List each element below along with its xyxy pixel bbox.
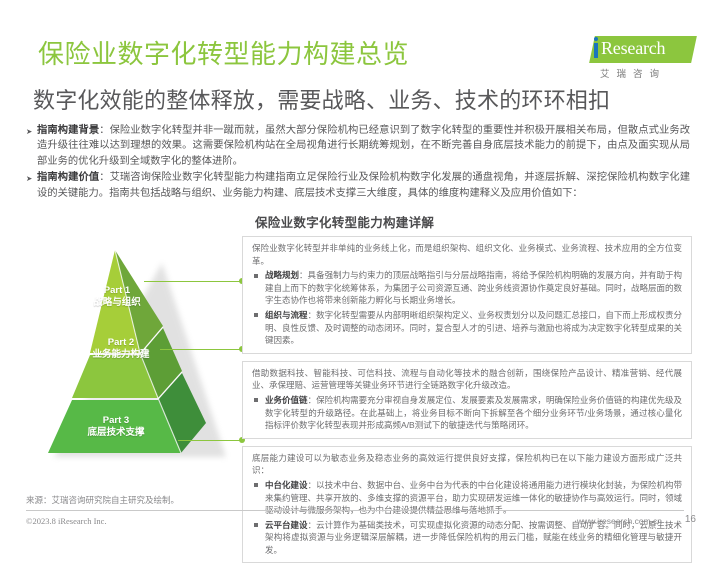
copyright-text: ©2023.8 iResearch Inc. xyxy=(26,516,107,526)
logo-mark: Research xyxy=(582,36,694,64)
card-bullet-label: 中台化建设 xyxy=(265,480,308,490)
logo-i-dot-icon xyxy=(594,37,598,41)
card-bullet: 组织与流程：数字化转型需要从内部明晰组织架构定义、业务权责划分以及问题汇总接口，… xyxy=(252,309,682,347)
logo-i-stem-icon xyxy=(594,43,598,58)
card-bullet-label: 云平台建设 xyxy=(265,520,308,530)
intro-item: 指南构建背景：保险业数字化转型并非一蹴而就，虽然大部分保险机构已经意识到了数字化… xyxy=(26,123,690,169)
connector-line-3 xyxy=(178,440,242,441)
intro-item-text: ：保险业数字化转型并非一蹴而就，虽然大部分保险机构已经意识到了数字化转型的重要性… xyxy=(37,125,690,167)
intro-item-label: 指南构建价值 xyxy=(37,172,99,183)
card-bullet-text: ：具备强制力与约束力的顶层战略指引与分层战略指南，将给予保险机构明确的发展方向，… xyxy=(265,270,682,305)
card-bullet-text: ：保险机构需要充分审视自身发展定位、发展要素及发展需求，明确保险业务价值链的构建… xyxy=(265,395,682,430)
card-lead: 借助数据科技、智能科技、可信科技、流程与自动化等技术的融合创新，围绕保险产品设计… xyxy=(252,367,682,392)
logo-chinese-name: 艾瑞咨询 xyxy=(600,66,666,80)
connector-line-2 xyxy=(160,349,242,350)
panel-title: 保险业数字化转型能力构建详解 xyxy=(255,212,434,231)
website-url: www.iresearch.com.cn xyxy=(577,516,662,526)
footer-divider xyxy=(26,510,684,511)
page-subtitle: 数字化效能的整体释放，需要战略、业务、技术的环环相扣 xyxy=(33,83,610,115)
card-bullet-label: 战略规划 xyxy=(265,270,299,280)
page-title: 保险业数字化转型能力构建总览 xyxy=(38,34,409,71)
intro-item-label: 指南构建背景 xyxy=(37,125,99,136)
card-strategy-organization: 保险业数字化转型并非单纯的业务线上化，而是组织架构、组织文化、业务模式、业务流程… xyxy=(242,236,692,354)
slide-canvas: 保险业数字化转型能力构建总览 数字化效能的整体释放，需要战略、业务、技术的环环相… xyxy=(0,0,710,532)
iresearch-logo: Research 艾瑞咨询 xyxy=(582,36,694,84)
card-lead: 底层能力建设可以为敏态业务及稳态业务的高效运行提供良好支撑，保险机构已在以下能力… xyxy=(252,452,682,477)
intro-item-text: ：艾瑞咨询保险业数字化转型能力构建指南立足保险行业及保险机构数字化发展的通盘视角… xyxy=(37,172,690,198)
card-bullet: 战略规划：具备强制力与约束力的顶层战略指引与分层战略指南，将给予保险机构明确的发… xyxy=(252,269,682,307)
card-bullet-text: ：数字化转型需要从内部明晰组织架构定义、业务权责划分以及问题汇总接口，自下而上形… xyxy=(265,310,682,345)
card-bullet: 业务价值链：保险机构需要充分审视自身发展定位、发展要素及发展需求，明确保险业务价… xyxy=(252,394,682,432)
page-number: 16 xyxy=(685,514,696,525)
card-technology-foundation: 底层能力建设可以为敏态业务及稳态业务的高效运行提供良好支撑，保险机构已在以下能力… xyxy=(242,446,692,564)
intro-item: 指南构建价值：艾瑞咨询保险业数字化转型能力构建指南立足保险行业及保险机构数字化发… xyxy=(26,170,690,201)
card-lead: 保险业数字化转型并非单纯的业务线上化，而是组织架构、组织文化、业务模式、业务流程… xyxy=(252,242,682,267)
card-bullet-label: 业务价值链 xyxy=(265,395,308,405)
source-note: 来源：艾瑞咨询研究院自主研究及绘制。 xyxy=(26,494,179,506)
logo-wordmark: Research xyxy=(601,38,665,59)
card-bullet: 中台化建设：以技术中台、数据中台、业务中台为代表的中台化建设将通用能力进行模块化… xyxy=(252,479,682,517)
pyramid-level-3-front xyxy=(48,400,181,453)
card-business-capability: 借助数据科技、智能科技、可信科技、流程与自动化等技术的融合创新，围绕保险产品设计… xyxy=(242,361,692,439)
intro-block: 指南构建背景：保险业数字化转型并非一蹴而就，虽然大部分保险机构已经意识到了数字化… xyxy=(26,123,690,202)
connector-line-1 xyxy=(144,281,242,282)
card-bullet-label: 组织与流程 xyxy=(265,310,308,320)
